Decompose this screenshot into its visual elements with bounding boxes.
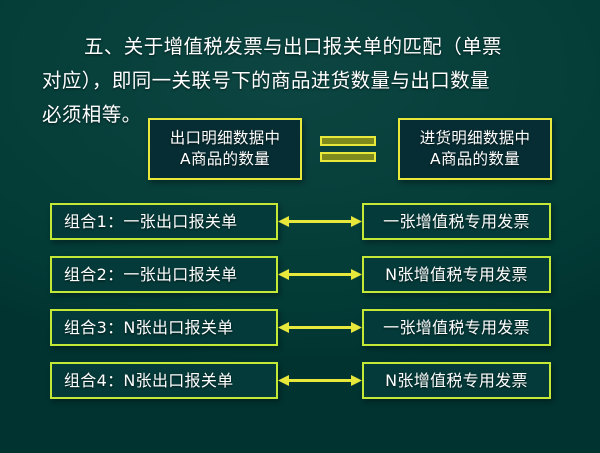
equation-left-line-2: A商品的数量 — [150, 149, 300, 170]
combination-row: 组合3：N张出口报关单 一张增值税专用发票 — [0, 309, 600, 346]
combination-list: 组合1：一张出口报关单 一张增值税专用发票 组合2：一张出口报关单 N张增值税专… — [0, 203, 600, 415]
equation-left-box: 出口明细数据中 A商品的数量 — [148, 118, 302, 180]
double-headed-arrow-icon — [278, 213, 362, 230]
page-title: 五、关于增值税发票与出口报关单的匹配（单票 对应），即同一关联号下的商品进货数量… — [42, 30, 562, 132]
combination-1-right-box: 一张增值税专用发票 — [362, 203, 551, 240]
combination-4-left-box: 组合4：N张出口报关单 — [50, 362, 278, 399]
slide-footer-space — [0, 440, 600, 453]
double-headed-arrow-icon — [278, 372, 362, 389]
combination-4-right-box: N张增值税专用发票 — [362, 362, 551, 399]
double-headed-arrow-icon — [278, 266, 362, 283]
equation-right-box: 进货明细数据中 A商品的数量 — [398, 118, 552, 180]
equation-right-line-2: A商品的数量 — [400, 149, 550, 170]
combination-2-left-box: 组合2：一张出口报关单 — [50, 256, 278, 293]
combination-row: 组合4：N张出口报关单 N张增值税专用发票 — [0, 362, 600, 399]
equals-sign-icon — [320, 136, 376, 164]
equation-left-line-1: 出口明细数据中 — [150, 128, 300, 149]
combination-3-left-box: 组合3：N张出口报关单 — [50, 309, 278, 346]
double-headed-arrow-icon — [278, 319, 362, 336]
heading-line-1: 五、关于增值税发票与出口报关单的匹配（单票 — [42, 30, 562, 64]
equation-row: 出口明细数据中 A商品的数量 进货明细数据中 A商品的数量 — [148, 118, 552, 180]
slide-canvas: 五、关于增值税发票与出口报关单的匹配（单票 对应），即同一关联号下的商品进货数量… — [0, 0, 600, 453]
combination-2-right-box: N张增值税专用发票 — [362, 256, 551, 293]
equation-right-line-1: 进货明细数据中 — [400, 128, 550, 149]
combination-row: 组合2：一张出口报关单 N张增值税专用发票 — [0, 256, 600, 293]
combination-3-right-box: 一张增值税专用发票 — [362, 309, 551, 346]
equals-bar-bottom — [320, 152, 376, 162]
heading-line-2: 对应），即同一关联号下的商品进货数量与出口数量 — [42, 64, 562, 98]
combination-1-left-box: 组合1：一张出口报关单 — [50, 203, 278, 240]
equals-bar-top — [320, 136, 376, 146]
combination-row: 组合1：一张出口报关单 一张增值税专用发票 — [0, 203, 600, 240]
